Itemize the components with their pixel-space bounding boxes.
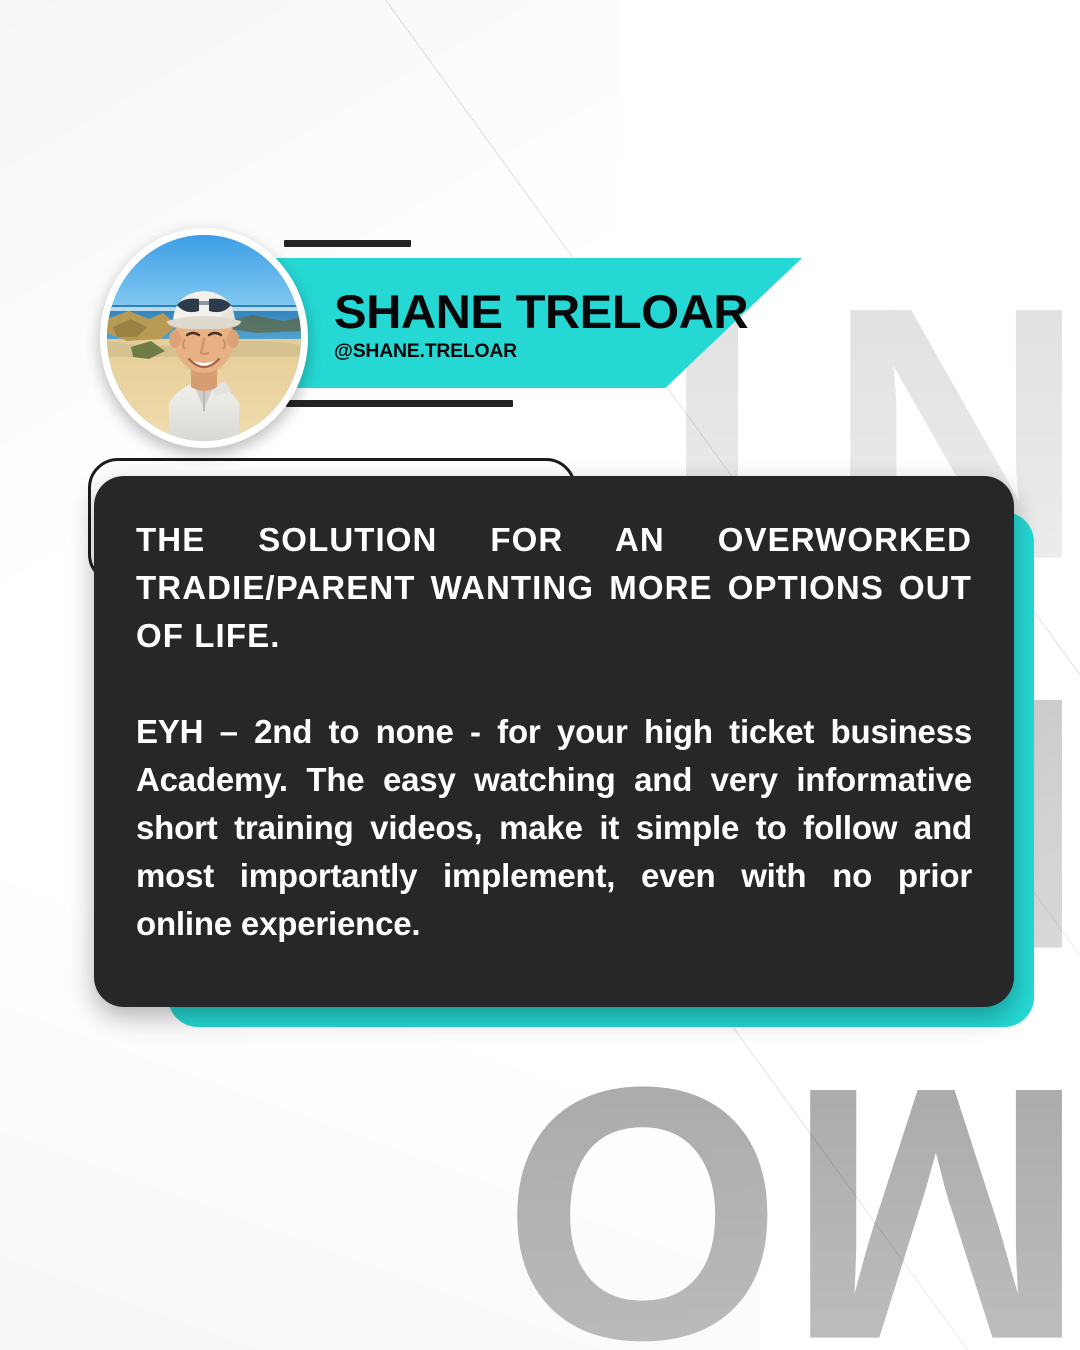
testimonial-card-stack: THE SOLUTION FOR AN OVERWORKED TRADIE/PA… bbox=[0, 0, 1080, 1350]
beach-portrait-illustration bbox=[107, 235, 301, 441]
avatar bbox=[100, 228, 308, 448]
testimonial-card: THE SOLUTION FOR AN OVERWORKED TRADIE/PA… bbox=[94, 476, 1014, 1007]
testimonial-graphic: MO ME NT SHANE TRELOAR @SHANE.TRELOAR bbox=[0, 0, 1080, 1350]
testimonial-heading: THE SOLUTION FOR AN OVERWORKED TRADIE/PA… bbox=[136, 516, 972, 660]
testimonial-body: EYH – 2nd to none - for your high ticket… bbox=[136, 708, 972, 948]
avatar-photo bbox=[107, 235, 301, 441]
